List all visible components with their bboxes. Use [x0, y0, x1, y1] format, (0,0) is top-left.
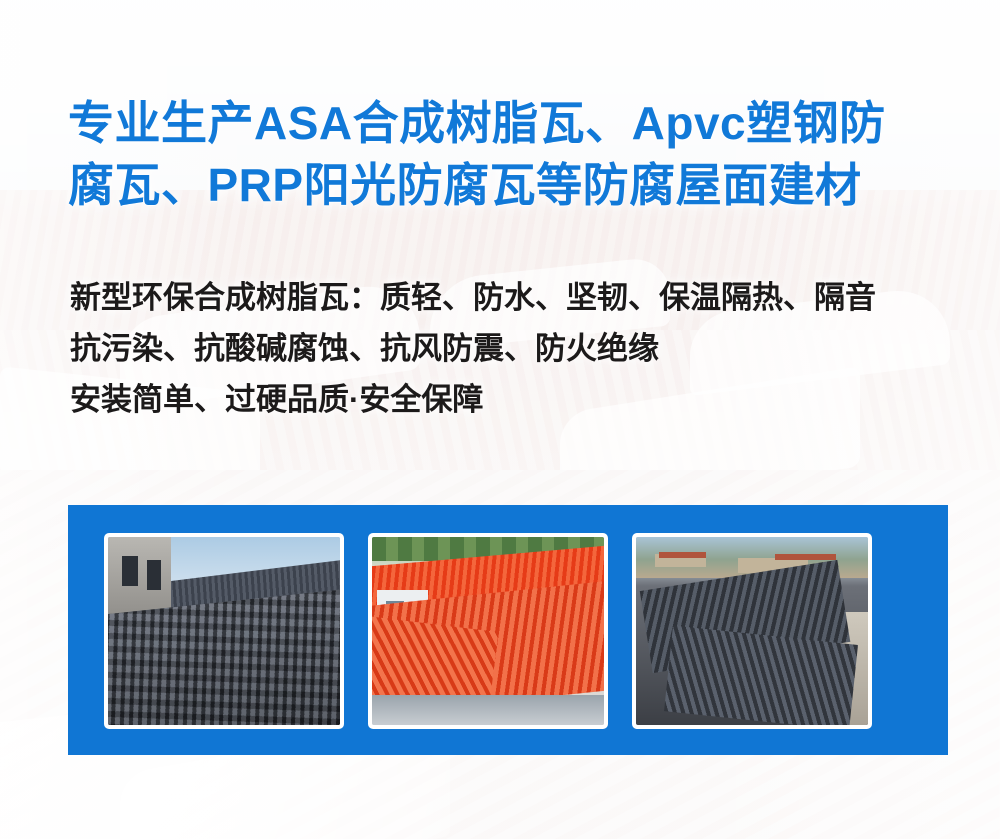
photo-image: [636, 537, 868, 725]
photo-distant-roof: [659, 552, 705, 558]
product-banner: 专业生产ASA合成树脂瓦、Apvc塑钢防 腐瓦、PRP阳光防腐瓦等防腐屋面建材 …: [0, 0, 1000, 839]
red-tile-roof-photo: [368, 533, 608, 729]
photo-image: [108, 537, 340, 725]
dark-grey-tile-roof-photo: [104, 533, 344, 729]
subtitle-line-1: 新型环保合成树脂瓦：质轻、防水、坚韧、保温隔热、隔音: [70, 272, 970, 323]
headline-line-2: 腐瓦、PRP阳光防腐瓦等防腐屋面建材: [68, 154, 958, 216]
headline-line-1: 专业生产ASA合成树脂瓦、Apvc塑钢防: [68, 92, 958, 154]
photo-window: [122, 556, 138, 586]
headline: 专业生产ASA合成树脂瓦、Apvc塑钢防 腐瓦、PRP阳光防腐瓦等防腐屋面建材: [68, 92, 958, 216]
photo-panel: [68, 505, 948, 755]
photo-gallery: [104, 533, 872, 729]
subtitle-line-3: 安装简单、过硬品质·安全保障: [70, 374, 970, 425]
subtitle: 新型环保合成树脂瓦：质轻、防水、坚韧、保温隔热、隔音 抗污染、抗酸碱腐蚀、抗风防…: [70, 272, 970, 425]
photo-distant-roof: [775, 554, 835, 560]
photo-image: [372, 537, 604, 725]
photo-window: [147, 560, 161, 590]
photo-building-base: [372, 695, 604, 725]
black-tile-roof-aerial-photo: [632, 533, 872, 729]
subtitle-line-2: 抗污染、抗酸碱腐蚀、抗风防震、防火绝缘: [70, 323, 970, 374]
